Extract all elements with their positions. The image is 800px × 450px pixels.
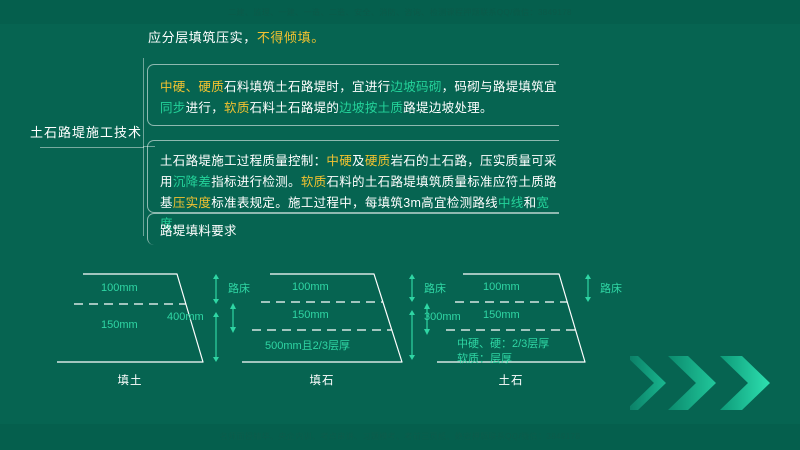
text-run-10: 标准表规定。施工过程中，每填筑3m高宜检测路线 (211, 196, 498, 210)
bracket-vertical-rule (143, 58, 144, 236)
text-run-6: 指标进行检测。 (211, 175, 301, 189)
chevron-decoration (630, 352, 800, 414)
fig3-layer-2-label: 150mm (483, 309, 520, 321)
slide-canvas: 二建、监理、一建、一造、二造、安全、消防、咨询、检测课程押题联系QQ/微信：38… (0, 0, 800, 450)
content-box-2: 土石路堤施工过程质量控制：中硬及硬质岩石的土石路，压实质量可采用沉降差指标进行检… (147, 140, 559, 213)
text-run-5: 沉降差 (173, 175, 211, 189)
text-run-7: 软质 (301, 175, 327, 189)
fig1-layer-2-label: 150mm (101, 319, 138, 331)
fig1-side-dimension: 400mm (167, 311, 204, 323)
text-run-5: 进行， (186, 101, 224, 115)
content-box-1-text: 中硬、硬质石料填筑土石路堤时，宜进行边坡码砌，码砌与路堤填筑宜同步进行，软质石料… (160, 77, 564, 119)
chevron-2 (668, 356, 716, 410)
text-run-8: 边坡按土质 (339, 101, 403, 115)
figure-fill-rock: 100mm 150mm 500mm且2/3层厚 填石 (240, 272, 404, 372)
text-run-6: 软质 (224, 101, 250, 115)
page-title: 土石路堤施工技术 (22, 122, 150, 141)
chevron-1 (630, 356, 666, 410)
fig1-dimension-arrows (208, 272, 224, 382)
text-run-3: ，码砌与路堤填筑宜 (442, 80, 557, 94)
fig2-dimension-arrows (404, 272, 420, 382)
content-box-3: 路堤填料要求 (147, 213, 559, 245)
text-run-1: 中硬 (326, 154, 352, 168)
fig3-roadbed-label: 路床 (600, 280, 622, 296)
text-run-0: 路堤填料要求 (160, 224, 237, 238)
fig2-layer-1-label: 100mm (292, 281, 329, 293)
fig2-layer-2-label: 150mm (292, 309, 329, 321)
text-run-12: 和 (524, 196, 537, 210)
fig3-left-arrow (420, 300, 434, 342)
fig3-layer-3-label: 中硬、硬：2/3层厚 (457, 335, 549, 351)
fig3-layer-1-label: 100mm (483, 281, 520, 293)
bottom-promo-text: 名师面授精华、央企内训、考点串讲、习题模考、考前三页纸、绝密押题联系QQ/微信：… (0, 431, 800, 442)
fig2-caption: 填石 (262, 372, 382, 388)
chevron-3 (720, 356, 770, 410)
top-promo-text: 二建、监理、一建、一造、二造、安全、消防、咨询、检测课程押题联系QQ/微信：38… (0, 7, 800, 18)
title-underline (40, 147, 144, 148)
text-run-9: 路堤边坡处理。 (403, 101, 493, 115)
headline: 应分层填筑压实，不得倾填。 (148, 27, 325, 46)
fig2-layer-3-label: 500mm且2/3层厚 (265, 337, 350, 353)
text-run-4: 同步 (160, 101, 186, 115)
fig3-layer-4-label: 软质：层厚 (457, 350, 512, 366)
fig1-caption: 填土 (70, 372, 190, 388)
fig2-left-arrow (226, 300, 240, 340)
content-box-3-text: 路堤填料要求 (160, 221, 564, 242)
fig1-layer-1-label: 100mm (101, 282, 138, 294)
text-run-9: 压实度 (173, 196, 211, 210)
text-run-0: 中硬、硬质 (160, 80, 224, 94)
text-run-7: 石料土石路堤的 (250, 101, 340, 115)
headline-highlight: 不得倾填。 (257, 30, 325, 45)
headline-plain: 应分层填筑压实， (148, 30, 257, 45)
text-run-3: 硬质 (365, 154, 391, 168)
text-run-0: 土石路堤施工过程质量控制： (160, 154, 326, 168)
fig3-caption: 土石 (451, 372, 571, 388)
text-run-2: 及 (352, 154, 365, 168)
fig3-dimension-arrows (580, 272, 596, 322)
text-run-2: 边坡码砌 (390, 80, 441, 94)
figure-soil-rock: 100mm 150mm 中硬、硬：2/3层厚 软质：层厚 土石 (435, 272, 587, 372)
text-run-1: 石料填筑土石路堤时，宜进行 (224, 80, 390, 94)
content-box-1: 中硬、硬质石料填筑土石路堤时，宜进行边坡码砌，码砌与路堤填筑宜同步进行，软质石料… (147, 64, 559, 126)
text-run-11: 中线 (498, 196, 524, 210)
